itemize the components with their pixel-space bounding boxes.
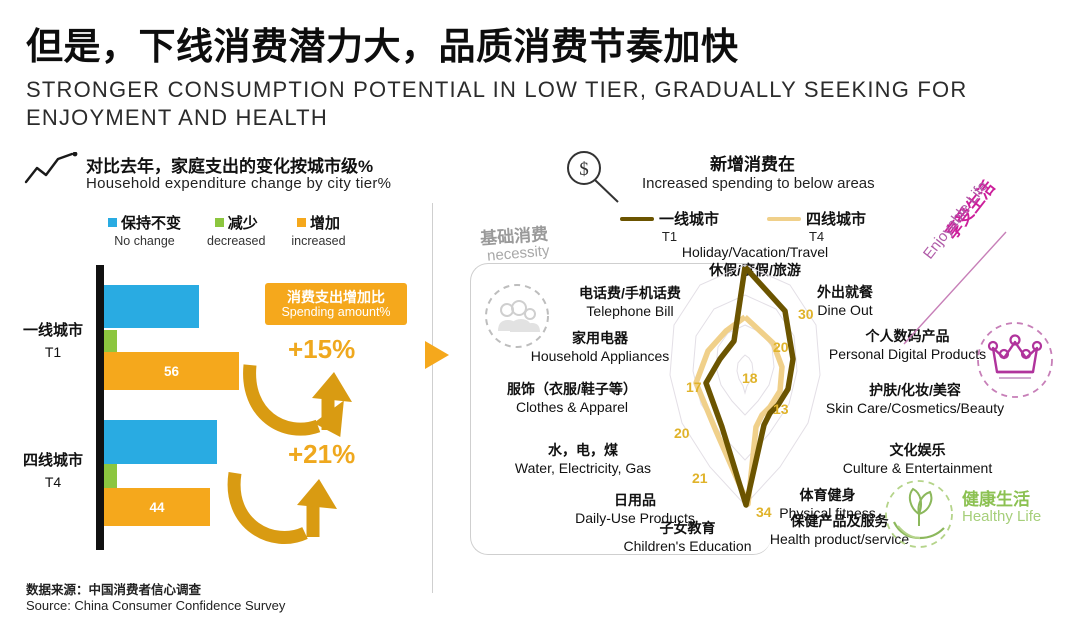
magnifier-dollar-icon: $ [560,148,622,206]
radar-legend-label-cn: 一线城市 [659,208,719,229]
source-label-cn: 数据来源：中国消费者信心调查 [26,579,201,598]
page-title-cn: 但是，下线消费潜力大，品质消费节奏加快 [26,16,739,70]
legend-item-no-change: 保持不变 No change [108,212,181,248]
radar-legend: 一线城市 T1 四线城市 T4 [620,208,866,244]
radar-axis-label-clothes: 服饰（衣服/鞋子等） Clothes & Apparel [497,380,647,416]
right-heading-en: Increased spending to below areas [642,175,875,192]
legend-label-cn: 保持不变 [121,212,181,233]
bar-chart-legend: 保持不变 No change 减少 decreased 增加 increased [108,212,346,248]
flow-arrow-icon [425,341,449,369]
right-heading-cn: 新增消费在 [710,150,795,175]
radar-value-30: 30 [798,306,814,322]
bar-category-t4-tier: T4 [45,474,61,490]
section-divider [432,203,433,593]
healthy-life-label-cn: 健康生活 [962,485,1030,510]
curved-arrow-t1-icon [240,360,375,445]
radar-legend-label-cn: 四线城市 [806,208,866,229]
legend-item-increased: 增加 increased [291,212,345,248]
spending-callout-en: Spending amount% [265,305,407,319]
bar-category-t1-tier: T1 [45,344,61,360]
legend-label-en: No change [114,234,174,248]
trend-line-icon [24,152,80,186]
bar-category-t1-cn: 一线城市 [23,322,83,339]
legend-label-cn: 减少 [228,212,258,233]
radar-value-20-digital: 20 [773,339,789,355]
bar-t1-increased: 56 [104,352,239,390]
plant-in-hand-icon [880,478,958,550]
page-title-en: STRONGER CONSUMPTION POTENTIAL IN LOW TI… [26,76,1056,132]
radar-legend-tier: T1 [662,229,677,244]
slide-root: 但是，下线消费潜力大，品质消费节奏加快 STRONGER CONSUMPTION… [0,0,1080,624]
radar-chart: 30 20 18 13 17 20 21 34 [630,255,860,540]
radar-legend-item-t4: 四线城市 T4 [767,208,866,244]
radar-legend-tier: T4 [809,229,824,244]
legend-swatch-decreased [215,218,224,227]
legend-label-cn: 增加 [310,212,340,233]
bar-category-t4: 四线城市 T4 [0,450,108,494]
bar-t1-increased-value: 56 [104,352,239,390]
radar-value-21: 21 [692,470,708,486]
spending-callout-cn: 消费支出增加比 [265,289,407,305]
radar-value-20-utilities: 20 [674,425,690,441]
legend-item-decreased: 减少 decreased [207,212,265,248]
curved-arrow-t4-icon [225,463,360,555]
source-label-en: Source: China Consumer Confidence Survey [26,598,285,613]
left-heading-cn: 对比去年，家庭支出的变化按城市级% [86,152,373,177]
radar-legend-swatch-t1 [620,217,654,221]
bar-t4-increased-value: 44 [104,488,210,526]
radar-value-13: 13 [773,401,789,417]
radar-value-17: 17 [686,379,702,395]
healthy-life-label-en: Healthy Life [962,508,1041,525]
left-heading-en: Household expenditure change by city tie… [86,175,391,192]
radar-legend-item-t1: 一线城市 T1 [620,208,719,244]
legend-label-en: increased [291,234,345,248]
legend-label-en: decreased [207,234,265,248]
legend-swatch-increased [297,218,306,227]
svg-text:$: $ [579,159,589,180]
crown-icon [975,320,1055,400]
bar-t1-no-change [104,285,199,328]
bar-category-t1: 一线城市 T1 [0,320,108,364]
legend-swatch-no-change [108,218,117,227]
bar-category-t4-cn: 四线城市 [23,452,83,469]
bar-t4-increased: 44 [104,488,210,526]
radar-value-34: 34 [756,504,772,520]
radar-value-18: 18 [742,370,758,386]
spending-callout-box: 消费支出增加比 Spending amount% [265,283,407,325]
bar-t4-no-change [104,420,217,464]
radar-legend-swatch-t4 [767,217,801,221]
bar-chart-axis [96,265,104,550]
